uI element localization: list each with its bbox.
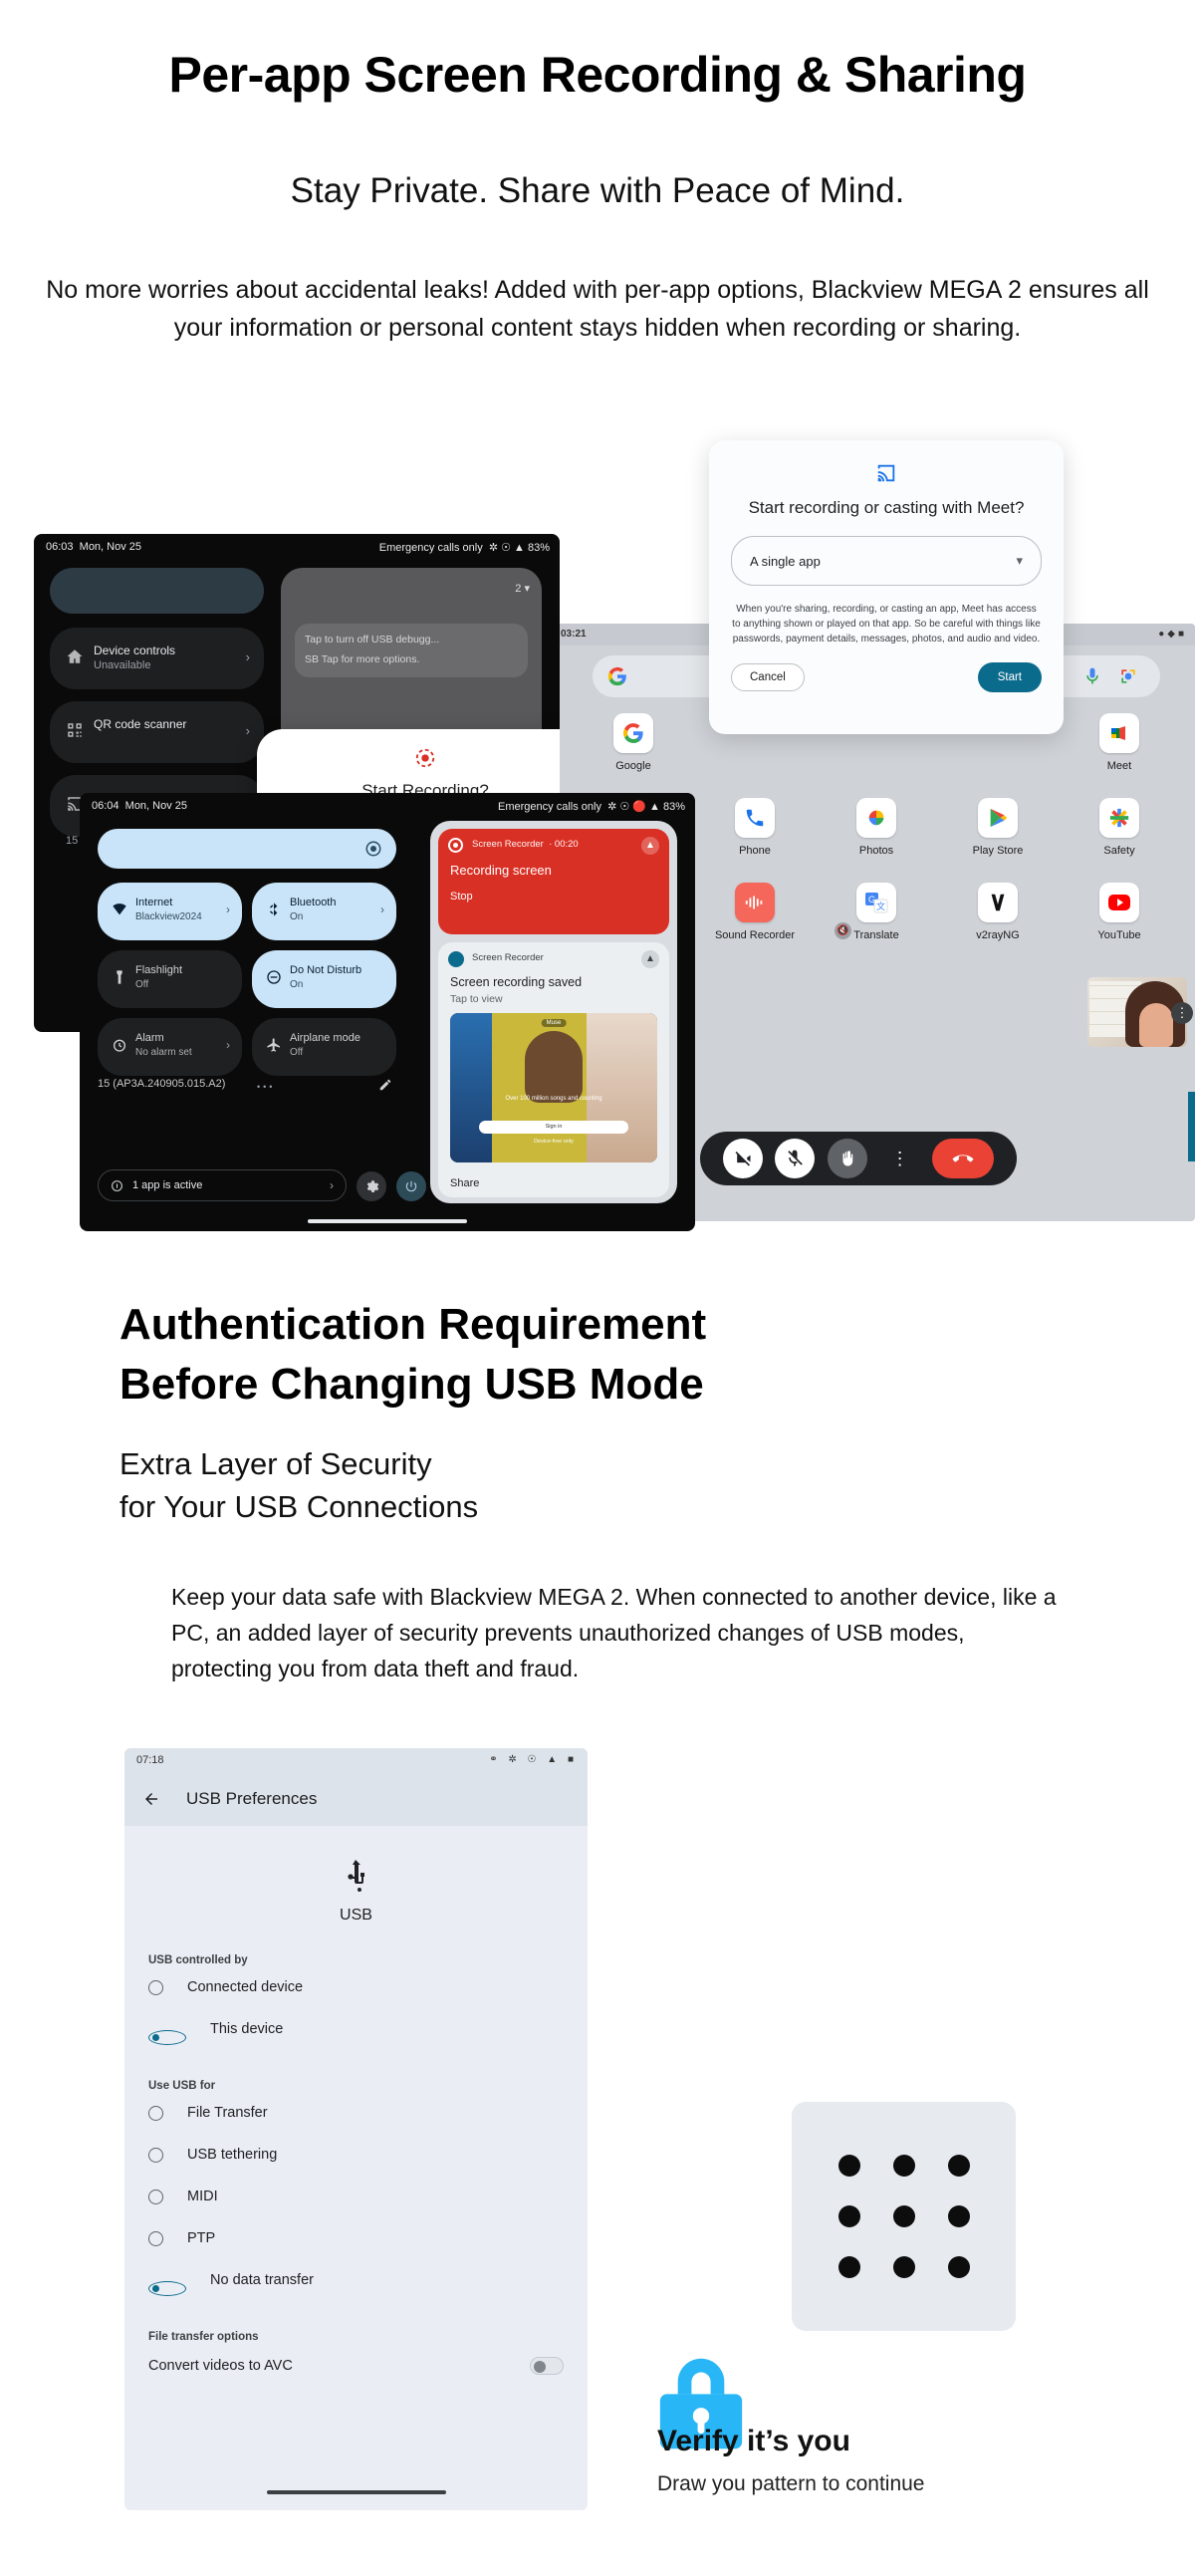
cancel-button[interactable]: Cancel <box>731 663 805 691</box>
status-right: Emergency calls only ✲ ☉ ▲ 83% <box>379 541 550 554</box>
usb-preferences-screen: 07:18 ⚭ ✲ ☉ ▲ ■ USB Preferences USB USB … <box>124 1748 588 2510</box>
edit-pencil-icon[interactable] <box>378 1078 392 1092</box>
app-photos[interactable]: Photos <box>816 798 937 857</box>
dialog-title: Start recording or casting with Meet? <box>731 498 1042 518</box>
app-empty: - <box>816 967 937 1026</box>
screen-recorder-icon <box>448 951 464 967</box>
tile-title: Bluetooth <box>290 897 336 908</box>
notification-app: Screen Recorder <box>472 952 657 963</box>
app-grid-status-time: 03:21 <box>561 629 587 640</box>
chevron-right-icon: › <box>380 902 384 916</box>
radio-icon <box>148 2148 163 2163</box>
notification-duration: 00:20 <box>555 839 579 850</box>
status-bar: 06:03 Mon, Nov 25 Emergency calls only ✲… <box>34 534 560 560</box>
radio-icon <box>148 2106 163 2121</box>
google-lens-icon[interactable] <box>1118 666 1138 686</box>
tile-subtitle: On <box>290 979 303 990</box>
active-apps-pill[interactable]: 1 app is active › <box>98 1169 347 1201</box>
tile-title: Device controls <box>94 644 175 657</box>
notification-app-line: Screen Recorder · 00:20 <box>472 839 657 850</box>
dialog-disclaimer: When you're sharing, recording, or casti… <box>731 602 1042 646</box>
radio-icon-selected <box>148 2281 186 2296</box>
pattern-dot[interactable] <box>838 2205 860 2227</box>
usb-icon <box>344 1860 369 1894</box>
tile-title: Flashlight <box>135 964 182 976</box>
tile-qr-scanner[interactable]: QR code scanner › <box>50 701 264 763</box>
section1-body: No more worries about accidental leaks! … <box>40 271 1155 347</box>
tile-subtitle: Blackview2024 <box>135 911 202 922</box>
marketing-page: Per-app Screen Recording & Sharing Stay … <box>0 0 1195 2576</box>
app-phone[interactable]: Phone <box>694 798 816 857</box>
usb-hero-label: USB <box>124 1907 588 1925</box>
pattern-dot[interactable] <box>893 2256 915 2278</box>
app-sound-recorder[interactable]: Sound Recorder <box>694 883 816 941</box>
share-action[interactable]: Share <box>450 1177 479 1189</box>
tile-subtitle: No alarm set <box>135 1047 192 1058</box>
notification-app: Screen Recorder <box>472 839 544 850</box>
sound-recorder-app-icon <box>735 883 775 922</box>
chevron-right-icon: › <box>226 1038 230 1052</box>
section2-title-line1: Authentication Requirement <box>119 1295 1016 1355</box>
quick-settings-tiles: Internet Blackview2024 › Bluetooth On › … <box>98 883 396 1076</box>
tile-bluetooth[interactable]: Bluetooth On › <box>252 883 396 940</box>
radio-this-device[interactable]: This device <box>124 2008 588 2050</box>
qr-icon <box>66 721 84 739</box>
back-arrow-icon[interactable] <box>142 1790 160 1808</box>
brightness-icon <box>364 840 382 858</box>
app-bar: USB Preferences <box>124 1774 588 1826</box>
pattern-dot[interactable] <box>838 2155 860 2177</box>
google-app-icon <box>613 713 653 753</box>
thumb-signin-button: Sign in <box>479 1121 628 1134</box>
status-time-date: 06:03 Mon, Nov 25 <box>46 541 141 553</box>
radio-icon <box>148 1980 163 1995</box>
start-button[interactable]: Start <box>978 662 1042 692</box>
section2-title: Authentication Requirement Before Changi… <box>119 1295 1016 1415</box>
settings-gear-icon[interactable] <box>357 1171 386 1201</box>
tile-title: QR code scanner <box>94 717 186 731</box>
tile-device-controls[interactable]: Device controls Unavailable › <box>50 628 264 689</box>
status-battery: 83% <box>663 801 685 813</box>
flashlight-icon <box>112 969 127 985</box>
notification-title: Screen recording saved <box>450 975 657 989</box>
more-options-icon[interactable]: ⋮ <box>880 1139 920 1178</box>
pattern-dot[interactable] <box>948 2256 970 2278</box>
record-icon <box>414 747 436 769</box>
radio-midi[interactable]: MIDI <box>124 2176 588 2217</box>
tile-flashlight[interactable]: Flashlight Off <box>98 950 242 1008</box>
airplane-icon <box>266 1037 282 1053</box>
select-value: A single app <box>750 554 821 569</box>
app-label: Play Store <box>973 845 1024 857</box>
wifi-icon <box>112 902 127 917</box>
status-icons: ⚭ ✲ ☉ ▲ ■ <box>489 1754 578 1765</box>
app-label: Safety <box>1103 845 1134 857</box>
tile-alarm[interactable]: Alarm No alarm set › <box>98 1018 242 1076</box>
row-convert-videos[interactable]: Convert videos to AVC <box>124 2343 588 2375</box>
play-store-app-icon <box>978 798 1018 838</box>
status-bar: 07:18 ⚭ ✲ ☉ ▲ ■ <box>124 1748 588 1774</box>
build-number: 15 (AP3A.240905.015.A2) <box>98 1078 225 1090</box>
pattern-dot[interactable] <box>948 2155 970 2177</box>
meet-call-controls: ⋮ <box>700 1132 1017 1185</box>
app-label: Sound Recorder <box>715 929 795 941</box>
chevron-right-icon: › <box>246 723 250 738</box>
status-right: Emergency calls only ✲ ☉ 🔴 ▲ 83% <box>498 800 685 813</box>
meet-app-icon <box>1099 713 1139 753</box>
dnd-icon <box>266 969 282 985</box>
tile-internet[interactable]: Internet Blackview2024 › <box>98 883 242 940</box>
app-grid-status-icons: ●◆■ <box>1158 629 1187 640</box>
notification-usb-debug[interactable]: Tap to turn off USB debugg... SB Tap for… <box>295 624 528 677</box>
app-google[interactable]: Google <box>573 713 694 772</box>
status-date: Mon, Nov 25 <box>125 800 187 812</box>
screen-edge-accent <box>1188 1092 1195 1161</box>
chevron-down-icon: ▾ <box>1016 553 1023 569</box>
pattern-dot[interactable] <box>893 2155 915 2177</box>
section2-subtitle-line2: for Your USB Connections <box>119 1485 1016 1528</box>
radio-label: This device <box>210 2021 283 2037</box>
verify-title: Verify it’s you <box>657 2425 850 2458</box>
section2-subtitle-line1: Extra Layer of Security <box>119 1442 1016 1485</box>
convert-label: Convert videos to AVC <box>148 2358 293 2374</box>
app-label: YouTube <box>1097 929 1140 941</box>
notification-count: 2 <box>515 583 521 595</box>
thumb-link: Device-free only <box>450 1139 657 1145</box>
usb-hero: USB <box>124 1826 588 1925</box>
app-label: Meet <box>1107 760 1131 772</box>
radio-ptp[interactable]: PTP <box>124 2217 588 2259</box>
tile-subtitle: Off <box>290 1047 303 1058</box>
raise-hand-icon[interactable] <box>828 1139 867 1178</box>
tile-subtitle: On <box>290 911 303 922</box>
pattern-dot[interactable] <box>893 2205 915 2227</box>
tile-title: Alarm <box>135 1032 164 1044</box>
radio-label: Connected device <box>187 1979 303 1995</box>
section1-subtitle: Stay Private. Share with Peace of Mind. <box>0 171 1195 211</box>
section2-subtitle: Extra Layer of Security for Your USB Con… <box>119 1442 1016 1528</box>
notification-saved[interactable]: Screen Recorder ▲ Screen recording saved… <box>438 942 669 1197</box>
notification-recording[interactable]: Screen Recorder · 00:20 ▲ Recording scre… <box>438 829 669 934</box>
tile-do-not-disturb[interactable]: Do Not Disturb On <box>252 950 396 1008</box>
chevron-up-icon[interactable]: ▲ <box>641 837 659 855</box>
chevron-right-icon: › <box>226 902 230 916</box>
section1-title: Per-app Screen Recording & Sharing <box>0 46 1195 104</box>
section2-body: Keep your data safe with Blackview MEGA … <box>171 1579 1068 1686</box>
notification-line-2: SB Tap for more options. <box>305 653 419 665</box>
chevron-right-icon: › <box>246 649 250 664</box>
radio-file-transfer[interactable]: File Transfer <box>124 2092 588 2134</box>
app-label: Google <box>615 760 650 772</box>
app-empty: - <box>937 967 1059 1026</box>
app-meet[interactable]: Meet <box>1059 713 1180 772</box>
device-quick-settings: 06:04 Mon, Nov 25 Emergency calls only ✲… <box>80 793 695 1231</box>
notification-line-1: Tap to turn off USB debugg... <box>305 634 439 645</box>
photos-app-icon <box>856 798 896 838</box>
cast-icon <box>873 462 899 484</box>
bluetooth-icon <box>266 902 282 917</box>
muted-indicator-icon: 🔇 <box>835 922 851 939</box>
notification-count-badge[interactable]: 2 ▾ <box>515 582 530 595</box>
nav-gesture-bar[interactable] <box>308 1219 467 1223</box>
brightness-slider[interactable] <box>50 568 264 614</box>
pip-more-options-icon[interactable]: ⋮ <box>1171 1002 1193 1024</box>
brightness-slider[interactable] <box>98 829 396 869</box>
active-apps-label: 1 app is active <box>132 1179 202 1191</box>
tile-airplane-mode[interactable]: Airplane mode Off <box>252 1018 396 1076</box>
status-time: 07:18 <box>136 1754 164 1766</box>
status-time: 06:03 <box>46 541 74 553</box>
pattern-lock-grid[interactable] <box>792 2102 1016 2331</box>
status-carrier: Emergency calls only <box>498 801 601 813</box>
page-indicator-dots: ••• <box>257 1082 275 1092</box>
app-v2rayng[interactable]: v2rayNG <box>937 883 1059 941</box>
radio-label: No data transfer <box>210 2272 314 2288</box>
power-icon[interactable] <box>396 1171 426 1201</box>
section-label-file-transfer-options: File transfer options <box>148 2331 588 2343</box>
pattern-dot[interactable] <box>948 2205 970 2227</box>
end-call-icon[interactable] <box>932 1139 994 1178</box>
section2-title-line2: Before Changing USB Mode <box>119 1355 1016 1415</box>
voice-search-icon[interactable] <box>1082 666 1102 686</box>
status-date: Mon, Nov 25 <box>80 541 141 553</box>
phone-app-icon <box>735 798 775 838</box>
status-bar: 06:04 Mon, Nov 25 Emergency calls only ✲… <box>80 793 695 819</box>
alarm-icon <box>112 1037 127 1053</box>
tile-title: Internet <box>135 897 172 908</box>
app-bar-title: USB Preferences <box>186 1789 317 1809</box>
nav-gesture-bar[interactable] <box>267 2490 446 2494</box>
status-time-date: 06:04 Mon, Nov 25 <box>92 800 187 812</box>
shade-footer-buttons <box>357 1171 426 1201</box>
record-icon <box>448 838 463 853</box>
thumb-caption: Over 100 million songs and counting <box>454 1095 653 1103</box>
section-label-use-usb-for: Use USB for <box>148 2080 588 2092</box>
youtube-app-icon <box>1099 883 1139 922</box>
safety-app-icon <box>1099 798 1139 838</box>
google-logo-icon <box>606 665 628 687</box>
tile-title: Do Not Disturb <box>290 964 361 976</box>
radio-label: USB tethering <box>187 2147 277 2163</box>
meet-casting-dialog: Start recording or casting with Meet? A … <box>709 440 1064 734</box>
app-label: Translate <box>853 929 898 941</box>
app-empty: - <box>694 967 816 1026</box>
home-icon <box>66 647 84 665</box>
tile-subtitle: Unavailable <box>94 659 150 671</box>
radio-icon-selected <box>148 2030 186 2045</box>
section-label-controlled-by: USB controlled by <box>148 1954 588 1966</box>
status-carrier: Emergency calls only <box>379 542 483 554</box>
quick-settings-panel: Internet Blackview2024 › Bluetooth On › … <box>98 829 396 1076</box>
radio-usb-tethering[interactable]: USB tethering <box>124 2134 588 2176</box>
radio-label: PTP <box>187 2230 215 2246</box>
camera-off-icon[interactable] <box>723 1139 763 1178</box>
notification-column: Screen Recorder · 00:20 ▲ Recording scre… <box>430 821 677 1203</box>
tile-title: Airplane mode <box>290 1032 360 1044</box>
notification-title: Recording screen <box>450 863 657 878</box>
status-time: 06:04 <box>92 800 119 812</box>
radio-icon <box>148 2190 163 2204</box>
radio-connected-device[interactable]: Connected device <box>124 1966 588 2008</box>
screenshot-collage: 03:21 ●◆■ <box>0 428 1195 1245</box>
chevron-up-icon[interactable]: ▲ <box>641 950 659 968</box>
v2rayng-app-icon <box>978 883 1018 922</box>
tile-subtitle: Off <box>135 979 148 990</box>
app-label: Phone <box>739 845 771 857</box>
convert-videos-toggle[interactable] <box>530 2357 564 2375</box>
translate-app-icon: G 文 <box>856 883 896 922</box>
svg-text:文: 文 <box>876 901 885 911</box>
stop-recording-action[interactable]: Stop <box>450 891 657 902</box>
sharing-scope-select[interactable]: A single app ▾ <box>731 536 1042 586</box>
mic-off-icon[interactable] <box>775 1139 815 1178</box>
thumb-watermark: Muse <box>542 1019 567 1027</box>
verify-identity-illustration: Verify it’s you Draw you pattern to cont… <box>657 2092 1075 2520</box>
status-battery: 83% <box>528 542 550 554</box>
app-label: Photos <box>859 845 893 857</box>
app-safety[interactable]: Safety <box>1059 798 1180 857</box>
app-youtube[interactable]: YouTube <box>1059 883 1180 941</box>
radio-label: File Transfer <box>187 2105 268 2121</box>
pattern-dot[interactable] <box>838 2256 860 2278</box>
app-label: v2rayNG <box>976 929 1019 941</box>
dialog-actions: Cancel Start <box>731 662 1042 692</box>
notification-subtitle: Tap to view <box>450 993 657 1005</box>
radio-no-data-transfer[interactable]: No data transfer <box>124 2259 588 2301</box>
info-icon <box>111 1179 123 1192</box>
chevron-right-icon: › <box>330 1178 334 1192</box>
app-play-store[interactable]: Play Store <box>937 798 1059 857</box>
recording-thumbnail[interactable]: Muse Over 100 million songs and counting… <box>450 1013 657 1162</box>
radio-label: MIDI <box>187 2189 218 2204</box>
verify-subtitle: Draw you pattern to continue <box>657 2472 925 2496</box>
radio-icon <box>148 2231 163 2246</box>
